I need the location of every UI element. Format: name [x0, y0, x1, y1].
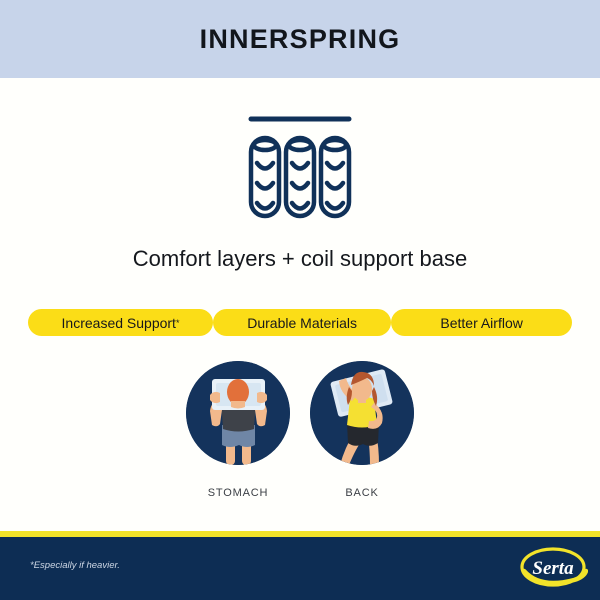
- serta-logo[interactable]: Serta: [518, 545, 588, 591]
- benefit-pill-label: Better Airflow: [440, 315, 522, 331]
- header-banner: INNERSPRING: [0, 0, 600, 78]
- sleep-position-back[interactable]: BACK: [310, 361, 414, 499]
- sleep-position-row: STOMACH: [186, 361, 414, 499]
- sleep-position-stomach[interactable]: STOMACH: [186, 361, 290, 499]
- back-sleeper-illustration: [310, 361, 414, 465]
- innerspring-infographic: INNERSPRING: [0, 0, 600, 600]
- subtitle-text: Comfort layers + coil support base: [0, 246, 600, 272]
- benefit-pill-increased-support[interactable]: Increased Support*: [28, 309, 213, 336]
- footnote-text: *Especially if heavier.: [30, 560, 120, 571]
- sleep-position-label: STOMACH: [208, 487, 268, 499]
- svg-text:Serta: Serta: [532, 558, 574, 579]
- sleep-position-label: BACK: [345, 487, 378, 499]
- page-title: INNERSPRING: [200, 24, 401, 55]
- benefit-pill-label: Increased Support: [62, 315, 176, 331]
- benefit-pill-label: Durable Materials: [247, 315, 357, 331]
- benefit-pill-better-airflow[interactable]: Better Airflow: [391, 309, 572, 336]
- benefit-pill-durable-materials[interactable]: Durable Materials: [213, 309, 391, 336]
- benefit-pill-row: Increased Support* Durable Materials Bet…: [28, 309, 572, 336]
- stomach-sleeper-illustration: [186, 361, 290, 465]
- coil-stack-icon: [240, 110, 360, 225]
- asterisk-marker: *: [176, 318, 180, 328]
